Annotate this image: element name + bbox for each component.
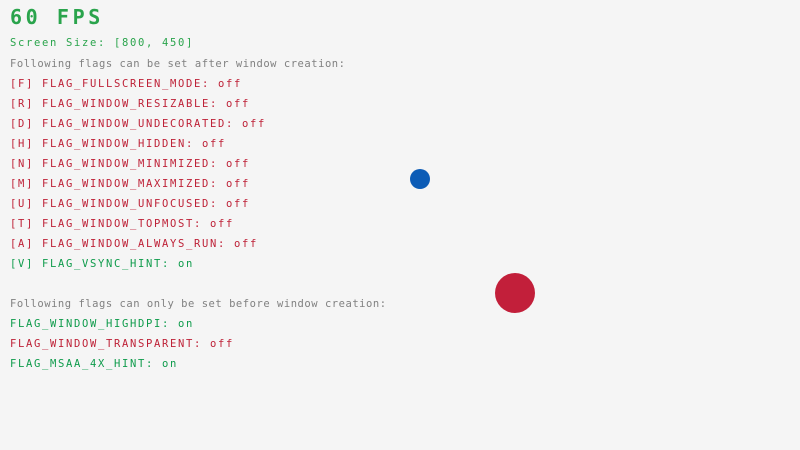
- flag-row-flag-window-minimized[interactable]: [N] FLAG_WINDOW_MINIMIZED: off: [10, 159, 250, 170]
- section-header-before-creation: Following flags can only be set before w…: [10, 299, 387, 310]
- flag-row-flag-fullscreen-mode[interactable]: [F] FLAG_FULLSCREEN_MODE: off: [10, 79, 242, 90]
- blue-ball-icon: [410, 169, 430, 189]
- flag-row-flag-window-resizable[interactable]: [R] FLAG_WINDOW_RESIZABLE: off: [10, 99, 250, 110]
- flag-row-flag-window-always-run[interactable]: [A] FLAG_WINDOW_ALWAYS_RUN: off: [10, 239, 258, 250]
- app-window: 60 FPS Screen Size: [800, 450] Following…: [0, 0, 800, 450]
- flag-row-flag-window-transparent[interactable]: FLAG_WINDOW_TRANSPARENT: off: [10, 339, 234, 350]
- flag-row-flag-window-undecorated[interactable]: [D] FLAG_WINDOW_UNDECORATED: off: [10, 119, 266, 130]
- red-ball-icon: [495, 273, 535, 313]
- flag-row-flag-window-hidden[interactable]: [H] FLAG_WINDOW_HIDDEN: off: [10, 139, 226, 150]
- flag-row-flag-window-highdpi[interactable]: FLAG_WINDOW_HIGHDPI: on: [10, 319, 194, 330]
- flag-row-flag-vsync-hint[interactable]: [V] FLAG_VSYNC_HINT: on: [10, 259, 194, 270]
- section-header-after-creation: Following flags can be set after window …: [10, 59, 345, 70]
- flag-row-flag-window-topmost[interactable]: [T] FLAG_WINDOW_TOPMOST: off: [10, 219, 234, 230]
- screen-size-label: Screen Size: [800, 450]: [10, 38, 194, 49]
- flag-row-flag-window-unfocused[interactable]: [U] FLAG_WINDOW_UNFOCUSED: off: [10, 199, 250, 210]
- fps-counter: 60 FPS: [10, 7, 104, 27]
- flag-row-flag-msaa-4x-hint[interactable]: FLAG_MSAA_4X_HINT: on: [10, 359, 178, 370]
- flag-row-flag-window-maximized[interactable]: [M] FLAG_WINDOW_MAXIMIZED: off: [10, 179, 250, 190]
